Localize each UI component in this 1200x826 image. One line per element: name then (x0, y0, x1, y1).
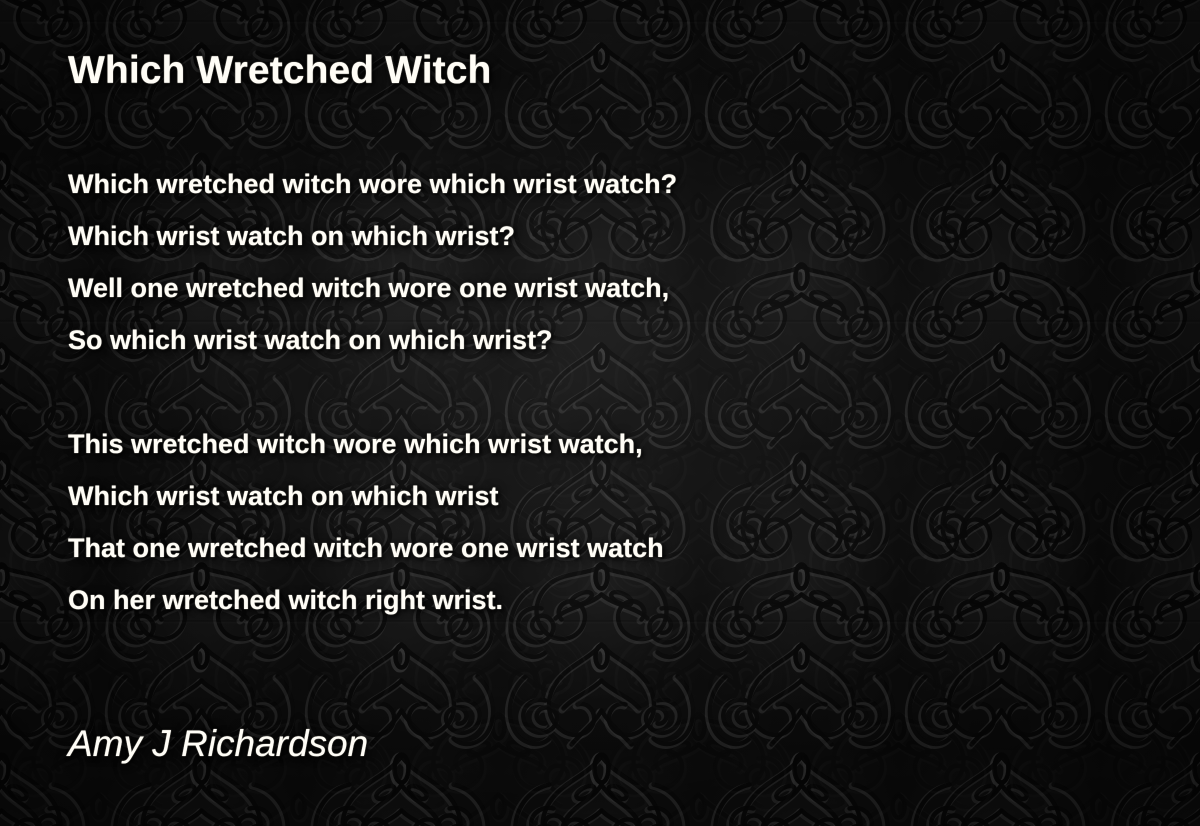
poem-line: Which wrist watch on which wrist? (68, 210, 677, 262)
poem-body: Which wretched witch wore which wrist wa… (68, 158, 677, 626)
poem-image-card: Which Wretched Witch Which wretched witc… (0, 0, 1200, 826)
poem-title: Which Wretched Witch (68, 51, 491, 92)
poem-line: This wretched witch wore which wrist wat… (68, 418, 677, 470)
poem-line: Which wretched witch wore which wrist wa… (68, 158, 677, 210)
poem-stanza: Which wretched witch wore which wrist wa… (68, 158, 677, 366)
poem-line: So which wrist watch on which wrist? (68, 314, 677, 366)
poem-author: Amy J Richardson (68, 723, 368, 765)
poem-line: Well one wretched witch wore one wrist w… (68, 262, 677, 314)
poem-stanza: This wretched witch wore which wrist wat… (68, 418, 677, 626)
poem-line: On her wretched witch right wrist. (68, 574, 677, 626)
poem-line: Which wrist watch on which wrist (68, 470, 677, 522)
poem-line: That one wretched witch wore one wrist w… (68, 522, 677, 574)
